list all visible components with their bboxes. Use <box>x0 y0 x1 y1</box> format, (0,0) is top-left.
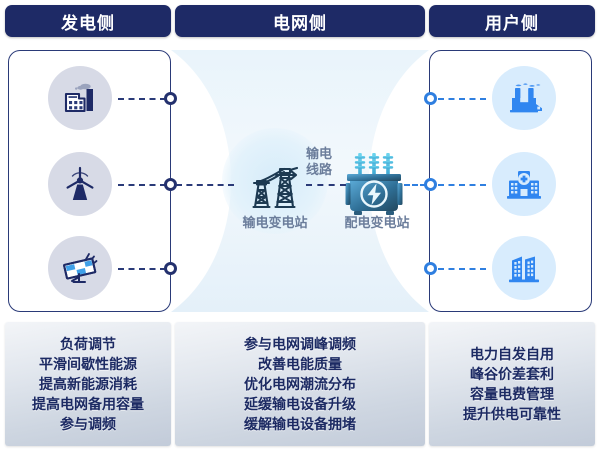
header-user-side: 用户侧 <box>429 5 595 37</box>
connector-user-1 <box>438 98 486 100</box>
connector-center-left <box>176 184 234 186</box>
info-line: 优化电网潮流分布 <box>244 374 356 394</box>
connector-user-3 <box>438 268 486 270</box>
power-plant-icon[interactable] <box>48 66 112 130</box>
office-building-icon[interactable] <box>492 236 556 300</box>
info-line: 参与电网调峰调频 <box>244 334 356 354</box>
node-generation-3[interactable] <box>164 262 177 275</box>
connector-generation-2 <box>118 184 166 186</box>
transmission-line-label-line2: 线路 <box>297 162 341 178</box>
distribution-substation-label: 配电变电站 <box>316 212 438 231</box>
info-panel-grid: 参与电网调峰调频 改善电能质量 优化电网潮流分布 延缓输电设备升级 缓解输电设备… <box>175 322 425 446</box>
info-line: 电力自发自用 <box>470 344 554 364</box>
connector-generation-3 <box>118 268 166 270</box>
info-line: 改善电能质量 <box>258 354 342 374</box>
connector-generation-1 <box>118 98 166 100</box>
node-user-3[interactable] <box>424 262 437 275</box>
info-line: 提高新能源消耗 <box>39 374 137 394</box>
info-line: 提高电网备用容量 <box>32 394 144 414</box>
info-line: 负荷调节 <box>60 334 116 354</box>
diagram-canvas: 发电侧 电网侧 用户侧 <box>0 0 600 450</box>
node-user-2[interactable] <box>424 178 437 191</box>
header-grid-side: 电网侧 <box>175 5 425 37</box>
connector-user-2 <box>438 184 486 186</box>
factory-icon[interactable] <box>492 66 556 130</box>
header-generation-side: 发电侧 <box>5 5 171 37</box>
info-line: 峰谷价差套利 <box>470 364 554 384</box>
info-line: 容量电费管理 <box>470 384 554 404</box>
info-panel-generation: 负荷调节 平滑间歇性能源 提高新能源消耗 提高电网备用容量 参与调频 <box>5 322 171 446</box>
transmission-line-label-line1: 输电 <box>297 146 341 162</box>
info-panel-user: 电力自发自用 峰谷价差套利 容量电费管理 提升供电可靠性 <box>429 322 595 446</box>
solar-panel-icon[interactable] <box>48 236 112 300</box>
transmission-line-label: 输电 线路 <box>297 146 341 178</box>
info-line: 平滑间歇性能源 <box>39 354 137 374</box>
node-generation-1[interactable] <box>164 92 177 105</box>
connector-center-middle <box>306 184 346 186</box>
info-line: 参与调频 <box>60 414 116 434</box>
wind-turbine-icon[interactable] <box>48 152 112 216</box>
info-line: 提升供电可靠性 <box>463 404 561 424</box>
info-line: 缓解输电设备拥堵 <box>244 414 356 434</box>
node-user-1[interactable] <box>424 92 437 105</box>
info-line: 延缓输电设备升级 <box>244 394 356 414</box>
hospital-icon[interactable] <box>492 152 556 216</box>
